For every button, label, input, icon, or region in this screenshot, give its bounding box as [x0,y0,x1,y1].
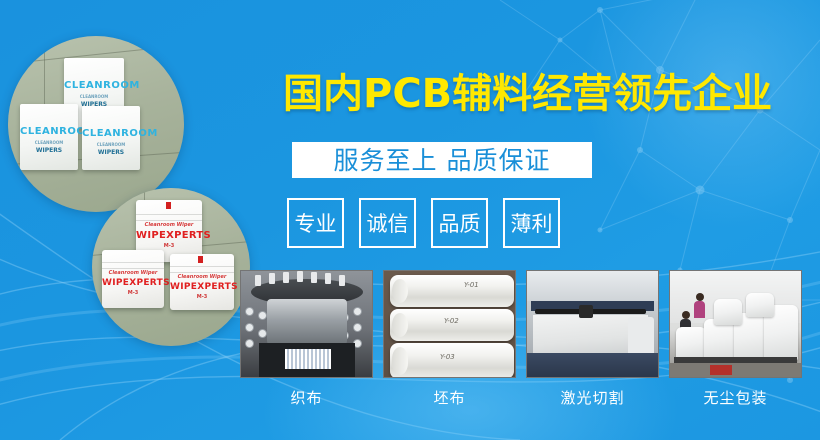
cleanroom-pack-left: CLEANROOM CLEANROOM WIPERS [20,104,78,170]
process-caption: 无尘包装 [669,387,802,408]
photo-laser-cutter [526,270,659,378]
pack-script-label: Cleanroom Wiper [170,274,234,280]
process-caption: 坯布 [383,387,516,408]
cleanroom-pack-right: CLEANROOM CLEANROOM WIPERS [82,106,140,170]
red-stamp [198,256,203,263]
subtitle-bar: 服务至上 品质保证 [292,142,592,178]
feature-tag-low-margin: 薄利 [503,198,560,248]
feature-tag-integrity: 诚信 [359,198,416,248]
pack-script-label: Cleanroom Wiper [136,222,202,228]
pack-subline-1: CLEANROOM [20,140,78,145]
pack-brand-label: CLEANROOM [20,126,78,137]
process-caption: 激光切割 [526,387,659,408]
pack-brand-label: WIPEXPERTS [170,282,234,292]
pack-subline-2: WIPERS [82,149,140,156]
process-item-laser-cutting: 激光切割 [526,270,659,408]
photo-fabric-rolls: Y-01 Y-02 Y-03 [383,270,516,378]
process-item-greige-fabric: Y-01 Y-02 Y-03 坯布 [383,270,516,408]
feature-tag-professional: 专业 [287,198,344,248]
product-circle-wipexperts: Cleanroom Wiper WIPEXPERTS M-3 Cleanroom… [92,188,250,346]
page-title: 国内PCB辅料经营领先企业 [283,74,803,114]
photo-cleanroom-packing [669,270,802,378]
process-caption: 织布 [240,387,373,408]
process-item-cleanroom-packing: 无尘包装 [669,270,802,408]
pack-script-label: Cleanroom Wiper [102,270,164,276]
pack-brand-label: CLEANROOM [82,128,140,139]
pack-brand-label: WIPEXPERTS [102,278,164,288]
feature-tag-list: 专业 诚信 品质 薄利 [287,198,560,248]
subtitle-text: 服务至上 品质保证 [334,148,551,173]
pack-code-label: M-3 [136,243,202,249]
promo-banner: CLEANROOM CLEANROOM WIPERS CLEANROOM CLE… [0,0,820,440]
photo-knitting-machine [240,270,373,378]
pack-subline-1: CLEANROOM [64,94,124,99]
pack-subline-1: CLEANROOM [82,142,140,147]
pack-code-label: M-3 [102,290,164,296]
red-stamp [166,202,171,209]
process-photo-strip: 织布 Y-01 Y-02 Y-03 坯布 激光 [240,270,802,408]
feature-tag-quality: 品质 [431,198,488,248]
pack-code-label: M-3 [170,294,234,300]
pack-subline-2: WIPERS [20,147,78,154]
process-item-weaving: 织布 [240,270,373,408]
wipexperts-pack-right: Cleanroom Wiper WIPEXPERTS M-3 [170,254,234,310]
pack-brand-label: WIPEXPERTS [136,230,202,241]
wipexperts-pack-left: Cleanroom Wiper WIPEXPERTS M-3 [102,250,164,308]
pack-brand-label: CLEANROOM [64,80,124,91]
product-circle-cleanroom: CLEANROOM CLEANROOM WIPERS CLEANROOM CLE… [8,36,184,212]
